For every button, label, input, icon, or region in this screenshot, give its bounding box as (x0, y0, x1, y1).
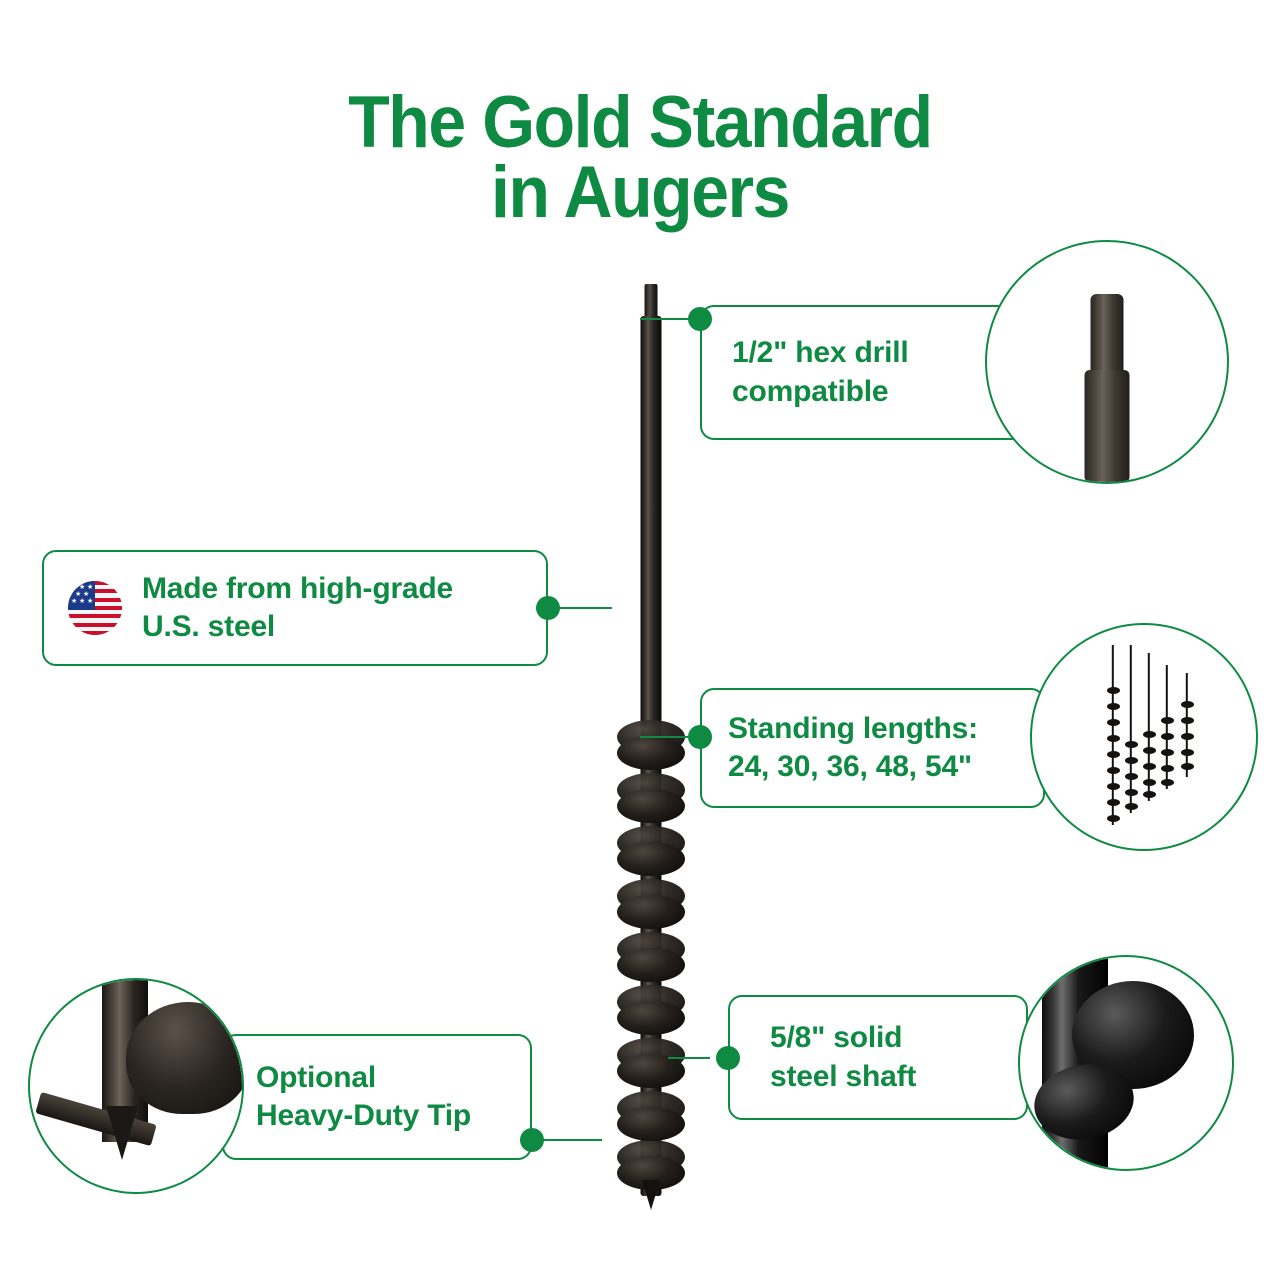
connector-dot-us-steel (536, 596, 560, 620)
connector-dot-hex-drill (688, 307, 712, 331)
auger-flight (617, 895, 685, 929)
auger-point-tip (642, 1180, 660, 1210)
connector-line-standing-lengths (640, 736, 690, 738)
callout-hex-drill-label: 1/2" hex drill compatible (732, 334, 909, 411)
auger-flight (617, 948, 685, 982)
auger-flight (617, 1001, 685, 1035)
us-flag-icon: ★ ★ ★ ★ ★ ★ ★ ★ (68, 581, 122, 635)
tip-flight (126, 1002, 242, 1114)
connector-line-solid-shaft (668, 1057, 710, 1059)
detail-circle-shaft (1018, 955, 1234, 1171)
connector-dot-solid-shaft (716, 1046, 740, 1070)
detail-circle-hex-shank (985, 240, 1229, 484)
callout-heavy-duty-tip-label: Optional Heavy-Duty Tip (256, 1059, 471, 1136)
callout-standing-lengths-label: Standing lengths: 24, 30, 36, 48, 54" (728, 710, 978, 787)
detail-circle-lengths (1030, 623, 1258, 851)
connector-dot-heavy-duty-tip (520, 1128, 544, 1152)
auger-flight (617, 842, 685, 876)
mini-auger (1180, 673, 1194, 777)
hex-shank-lower (1085, 370, 1130, 482)
connector-line-us-steel (558, 607, 612, 609)
callout-hex-drill[interactable]: 1/2" hex drill compatible (700, 305, 1030, 440)
auger-flight (617, 1107, 685, 1141)
mini-auger (1124, 645, 1138, 813)
page-title: The Gold Standard in Augers (45, 88, 1235, 228)
callout-us-steel-label: Made from high-grade U.S. steel (142, 570, 453, 647)
callout-solid-shaft[interactable]: 5/8" solid steel shaft (728, 995, 1028, 1120)
auger-flight (617, 789, 685, 823)
callout-us-steel[interactable]: ★ ★ ★ ★ ★ ★ ★ ★ Made from high-grade U.S… (42, 550, 548, 666)
auger-flight (617, 736, 685, 770)
connector-line-hex-drill (640, 318, 690, 320)
flag-canton: ★ ★ ★ ★ ★ ★ ★ ★ (68, 581, 95, 610)
mini-auger (1160, 665, 1174, 789)
mini-auger (1142, 653, 1156, 801)
detail-circle-tip (28, 978, 244, 1194)
callout-standing-lengths[interactable]: Standing lengths: 24, 30, 36, 48, 54" (700, 688, 1045, 808)
connector-dot-standing-lengths (688, 725, 712, 749)
hex-shank-upper (1091, 294, 1124, 382)
callout-solid-shaft-label: 5/8" solid steel shaft (770, 1019, 916, 1096)
mini-auger (1106, 645, 1120, 825)
connector-line-heavy-duty-tip (542, 1139, 602, 1141)
callout-heavy-duty-tip[interactable]: Optional Heavy-Duty Tip (222, 1034, 532, 1160)
main-product-auger-image (596, 284, 706, 1208)
infographic-page: The Gold Standard in Augers 1/2" hex dri… (0, 0, 1280, 1280)
tip-center-point (106, 1106, 138, 1160)
